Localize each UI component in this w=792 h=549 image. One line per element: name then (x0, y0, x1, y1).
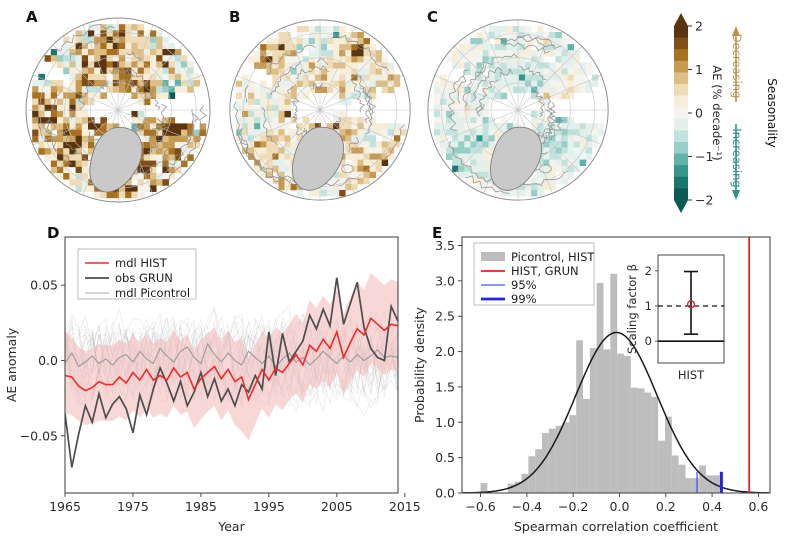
map-cell (285, 160, 291, 166)
map-cell (303, 62, 309, 68)
map-cell (321, 75, 327, 81)
map-cell (254, 117, 260, 123)
map-cell (76, 117, 83, 124)
map-cell (200, 123, 207, 130)
map-cell (309, 38, 315, 44)
map-cell (568, 75, 574, 81)
map-cell (574, 160, 580, 166)
panel-d-ytick-label: −0.05 (20, 428, 58, 443)
map-cell (88, 74, 95, 81)
map-cell (364, 141, 370, 147)
map-cell (555, 50, 561, 56)
map-cell (549, 81, 555, 87)
map-cell (278, 166, 284, 172)
map-cell (150, 154, 157, 161)
map-cell (562, 147, 568, 153)
map-cell (266, 44, 272, 50)
histogram-bar (576, 340, 583, 493)
map-cell (464, 50, 470, 56)
map-cell (272, 129, 278, 135)
map-cell (150, 80, 157, 87)
map-cell (260, 147, 266, 153)
map-cell (248, 87, 254, 93)
map-cell (309, 32, 315, 38)
map-cell (555, 160, 561, 166)
panel-d-xtick-label: 1975 (117, 499, 149, 514)
map-cell (248, 99, 254, 105)
panel-d-xtick-label: 1985 (185, 499, 217, 514)
map-cell (452, 166, 458, 172)
histogram-bar (522, 474, 529, 493)
map-cell (82, 49, 89, 56)
map-cell (63, 99, 70, 106)
map-cell (76, 55, 83, 62)
panel-e-xtick-label: −0.4 (512, 499, 542, 514)
map-cell (57, 136, 64, 143)
map-cell (45, 111, 52, 118)
map-cell (82, 136, 89, 143)
map-cell (351, 154, 357, 160)
map-cell (76, 74, 83, 81)
map-cell (156, 154, 163, 161)
map-cell (278, 99, 284, 105)
inset-ytick-label: 2 (645, 264, 652, 278)
map-cell (272, 75, 278, 81)
map-cell (586, 141, 592, 147)
panel-d-legend-label: mdl HIST (115, 256, 168, 270)
map-cell (476, 141, 482, 147)
map-cell (345, 154, 351, 160)
map-cell (266, 99, 272, 105)
map-cell (248, 105, 254, 111)
map-cell (531, 117, 537, 123)
map-cell (88, 55, 95, 62)
map-cell (543, 68, 549, 74)
map-cell (285, 62, 291, 68)
map-cell (113, 30, 120, 37)
map-cell (138, 74, 145, 81)
map-cell (357, 123, 363, 129)
map-cell (100, 49, 107, 56)
map-cell (537, 62, 543, 68)
map-cell (513, 44, 519, 50)
map-cell (162, 92, 169, 99)
map-cell (150, 61, 157, 68)
map-cell (382, 123, 388, 129)
map-cell (285, 105, 291, 111)
map-cell (476, 50, 482, 56)
map-cell (327, 26, 333, 32)
map-cell (315, 44, 321, 50)
map-cell (580, 75, 586, 81)
map-cell (574, 135, 580, 141)
map-cell (156, 179, 163, 186)
map-cell (574, 147, 580, 153)
map-cell (562, 160, 568, 166)
map-cell (501, 50, 507, 56)
map-cell (351, 184, 357, 190)
map-cell (388, 123, 394, 129)
map-cell (333, 38, 339, 44)
map-cell (476, 154, 482, 160)
map-cell (272, 111, 278, 117)
map-cell (272, 99, 278, 105)
map-cell (370, 129, 376, 135)
map-cell (370, 68, 376, 74)
map-cell (434, 129, 440, 135)
histogram-bar (569, 415, 576, 493)
map-cell (285, 154, 291, 160)
map-cell (138, 24, 145, 31)
map-cell (113, 49, 120, 56)
map-cell (278, 32, 284, 38)
map-cell (434, 123, 440, 129)
map-cell (285, 87, 291, 93)
map-cell (150, 185, 157, 192)
map-cell (69, 86, 76, 93)
map-cell (513, 190, 519, 196)
map-cell (285, 56, 291, 62)
map-cell (169, 49, 176, 56)
histogram-bar (590, 348, 597, 493)
map-cell (321, 56, 327, 62)
map-cell (489, 50, 495, 56)
map-cell (57, 80, 64, 87)
map-cell (370, 62, 376, 68)
map-cell (345, 147, 351, 153)
histogram-bar (556, 426, 563, 493)
map-cell (285, 50, 291, 56)
map-cell (495, 93, 501, 99)
map-cell (144, 68, 151, 75)
histogram-bar (597, 283, 604, 493)
map-cell (351, 129, 357, 135)
map-cell (131, 68, 138, 75)
map-cell (175, 86, 182, 93)
map-cell (254, 50, 260, 56)
map-cell (63, 167, 70, 174)
map-cell (236, 93, 242, 99)
map-cell (76, 80, 83, 87)
map-cell (543, 75, 549, 81)
map-cell (321, 190, 327, 196)
colorbar: 210−1−2AE (% decade⁻¹)DecreasingIncreasi… (668, 6, 792, 218)
colorbar-segment (674, 96, 688, 108)
panel-d-svg: 1965197519851995200520150.050.0−0.05Year… (0, 215, 420, 549)
map-cell (248, 93, 254, 99)
panel-e-legend-label: Picontrol, HIST (511, 250, 595, 264)
map-cell (63, 105, 70, 112)
map-cell (501, 62, 507, 68)
map-cell (586, 147, 592, 153)
map-cell (76, 130, 83, 137)
panel-e-xlabel: Spearman correlation coefficient (514, 519, 718, 534)
map-cell (507, 32, 513, 38)
map-cell (562, 68, 568, 74)
map-cell (446, 123, 452, 129)
map-cell (333, 87, 339, 93)
histogram-bar (692, 478, 699, 493)
map-cell (568, 44, 574, 50)
map-cell (458, 135, 464, 141)
map-cell (260, 81, 266, 87)
map-cell (345, 56, 351, 62)
map-cell (513, 26, 519, 32)
map-cell (568, 154, 574, 160)
map-cell (69, 130, 76, 137)
map-cell (113, 55, 120, 62)
map-cell (339, 68, 345, 74)
map-cell (285, 135, 291, 141)
map-cell (131, 24, 138, 31)
map-cell (370, 135, 376, 141)
map-cell (144, 49, 151, 56)
map-cell (150, 55, 157, 62)
map-cell (598, 123, 604, 129)
histogram-bar (535, 449, 542, 493)
map-cell (254, 99, 260, 105)
map-cell (440, 147, 446, 153)
map-cell (483, 160, 489, 166)
map-cell (69, 179, 76, 186)
map-cell (489, 26, 495, 32)
inset-ytick-label: 0 (645, 334, 652, 348)
map-a-svg (18, 10, 218, 210)
map-cell (458, 81, 464, 87)
map-cell (76, 179, 83, 186)
map-cell (150, 30, 157, 37)
map-cell (470, 87, 476, 93)
colorbar-axis-label: AE (% decade⁻¹) (710, 65, 724, 160)
map-cell (260, 160, 266, 166)
map-cell (266, 111, 272, 117)
map-cell (125, 24, 132, 31)
map-cell (113, 74, 120, 81)
map-cell (333, 50, 339, 56)
histogram-bar (583, 399, 590, 493)
map-cell (495, 123, 501, 129)
map-cell (297, 123, 303, 129)
histogram-bar (549, 429, 556, 493)
map-cell (76, 86, 83, 93)
map-cell (45, 105, 52, 112)
map-cell (138, 61, 145, 68)
histogram-bar (563, 422, 570, 493)
map-cell (131, 49, 138, 56)
map-cell (327, 62, 333, 68)
map-cell (32, 136, 39, 143)
map-cell (315, 32, 321, 38)
map-cell (260, 56, 266, 62)
map-cell (138, 68, 145, 75)
map-cell (76, 185, 83, 192)
map-cell (113, 61, 120, 68)
map-cell (51, 86, 58, 93)
map-cell (476, 123, 482, 129)
colorbar-segment (674, 177, 688, 189)
map-cell (76, 136, 83, 143)
map-cell (193, 130, 200, 137)
map-cell (549, 87, 555, 93)
map-cell (193, 80, 200, 87)
map-cell (483, 56, 489, 62)
map-cell (309, 26, 315, 32)
map-cell (169, 74, 176, 81)
map-cell (562, 117, 568, 123)
map-cell (88, 86, 95, 93)
map-cell (248, 129, 254, 135)
map-cell (519, 68, 525, 74)
map-cell (162, 74, 169, 81)
map-cell (434, 87, 440, 93)
map-cell (248, 56, 254, 62)
map-cell (507, 87, 513, 93)
map-cell (309, 87, 315, 93)
map-cell (470, 129, 476, 135)
map-cell (555, 123, 561, 129)
map-cell (470, 111, 476, 117)
map-cell (452, 50, 458, 56)
map-cell (345, 141, 351, 147)
map-cell (100, 37, 107, 44)
colorbar-segment (674, 154, 688, 166)
colorbar-segment (674, 84, 688, 96)
map-cell (113, 86, 120, 93)
map-cell (57, 123, 64, 130)
map-cell (187, 74, 194, 81)
map-cell (574, 123, 580, 129)
map-cell (272, 105, 278, 111)
map-cell (169, 68, 176, 75)
map-cell (586, 123, 592, 129)
map-cell (181, 161, 188, 168)
map-cell (370, 44, 376, 50)
map-cell (470, 160, 476, 166)
map-cell (175, 123, 182, 130)
map-cell (57, 99, 64, 106)
map-cell (519, 56, 525, 62)
map-cell (489, 141, 495, 147)
colorbar-segment (674, 26, 688, 38)
map-cell (580, 87, 586, 93)
map-cell (57, 142, 64, 149)
colorbar-segment (674, 165, 688, 177)
map-cell (260, 135, 266, 141)
map-cell (357, 154, 363, 160)
map-cell (107, 43, 114, 50)
map-cell (549, 68, 555, 74)
map-cell (309, 75, 315, 81)
map-cell (513, 87, 519, 93)
map-cell (321, 26, 327, 32)
map-cell (94, 68, 101, 75)
map-cell (107, 86, 114, 93)
map-cell (242, 117, 248, 123)
map-cell (364, 75, 370, 81)
map-cell (562, 178, 568, 184)
map-cell (364, 178, 370, 184)
map-cell (483, 99, 489, 105)
map-cell (592, 81, 598, 87)
map-cell (580, 129, 586, 135)
map-cell (82, 173, 89, 180)
panel-e-ytick-label: 0.5 (435, 450, 455, 465)
map-cell (440, 141, 446, 147)
map-cell (131, 43, 138, 50)
map-cell (278, 50, 284, 56)
map-cell (82, 161, 89, 168)
map-cell (309, 190, 315, 196)
map-cell (376, 141, 382, 147)
map-cell (549, 154, 555, 160)
map-cell (272, 160, 278, 166)
map-cell (175, 136, 182, 143)
map-cell (285, 184, 291, 190)
map-cell (150, 49, 157, 56)
map-cell (254, 87, 260, 93)
map-cell (119, 192, 126, 199)
map-cell (464, 141, 470, 147)
map-cell (76, 61, 83, 68)
map-cell (574, 75, 580, 81)
map-cell (339, 38, 345, 44)
map-cell (315, 26, 321, 32)
map-cell (483, 135, 489, 141)
map-cell (357, 56, 363, 62)
map-cell (555, 32, 561, 38)
map-cell (333, 111, 339, 117)
map-cell (364, 68, 370, 74)
colorbar-segment (674, 49, 688, 61)
map-cell (555, 154, 561, 160)
map-cell (248, 123, 254, 129)
map-cell (272, 56, 278, 62)
histogram-bar (672, 456, 679, 493)
map-cell (327, 190, 333, 196)
map-cell (69, 99, 76, 106)
map-cell (549, 160, 555, 166)
map-cell (175, 80, 182, 87)
map-cell (107, 55, 114, 62)
map-cell (45, 154, 52, 161)
map-cell (51, 161, 58, 168)
map-cell (382, 75, 388, 81)
map-cell (242, 105, 248, 111)
decreasing-label: Decreasing (730, 34, 744, 99)
map-cell (464, 68, 470, 74)
map-cell (464, 147, 470, 153)
map-cell (297, 44, 303, 50)
map-cell (138, 192, 145, 199)
map-cell (76, 167, 83, 174)
map-cell (483, 172, 489, 178)
map-cell (45, 86, 52, 93)
map-cell (476, 160, 482, 166)
map-cell (370, 172, 376, 178)
map-cell (38, 105, 45, 112)
map-cell (266, 68, 272, 74)
map-cell (333, 178, 339, 184)
map-cell (315, 75, 321, 81)
map-cell (333, 190, 339, 196)
map-cell (38, 142, 45, 149)
map-cell (580, 123, 586, 129)
map-cell (266, 154, 272, 160)
map-cell (543, 154, 549, 160)
map-cell (266, 147, 272, 153)
map-cell (32, 130, 39, 137)
panel-e-xtick-label: −0.2 (558, 499, 588, 514)
